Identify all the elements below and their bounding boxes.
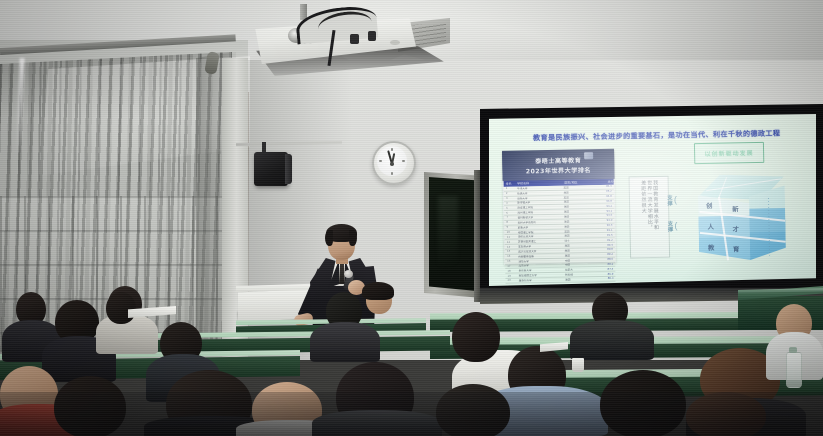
table-cell: 92.1 (596, 229, 615, 232)
table-cell: 88.2 (596, 263, 615, 266)
cube-char: 创 (706, 201, 713, 210)
table-cell: 11 (505, 235, 516, 238)
table-cell: 96.4 (595, 185, 614, 188)
table-cell: 6 (504, 211, 515, 214)
water-bottle-cap-icon (789, 347, 797, 353)
table-cell: 94.8 (595, 200, 614, 203)
clock-tick (391, 172, 393, 175)
cube-char: 才 (732, 224, 739, 233)
wall-speaker-side (285, 154, 292, 184)
table-cell: 91.2 (596, 238, 615, 241)
cube-char: 人 (707, 222, 714, 231)
support-label: 支撑 (665, 221, 673, 233)
table-cell: 14 (505, 250, 516, 253)
table-cell: 94.2 (595, 205, 614, 208)
table-cell: 8 (504, 221, 515, 224)
support-item: 支撑 ( (665, 194, 691, 206)
table-cell: 10 (505, 231, 516, 234)
ranking-table-title: 泰晤士高等教育 2023年世界大学排名 (502, 150, 615, 180)
table-cell: 13 (505, 245, 516, 248)
support-item: 支撑 ( (665, 220, 691, 232)
presenter-hair-side (325, 230, 333, 246)
ceiling-fixture (390, 40, 400, 45)
three-part-cube-diagram: 创 新 人 才 教 育 (692, 173, 788, 263)
table-cell: 17 (505, 265, 516, 268)
ranking-title-line1: 泰晤士高等教育 (535, 155, 581, 165)
table-cell: 91.6 (596, 234, 615, 237)
table-cell: 2 (504, 192, 515, 195)
table-cell: 87.4 (596, 267, 615, 270)
table-cell: 7 (504, 216, 515, 219)
slide-green-label-text: 以创新驱动发展 (705, 148, 754, 158)
table-cell: 89.8 (596, 248, 615, 251)
table-cell: 1 (504, 187, 515, 190)
slide-content: 教育是民族振兴、社会进步的重要基石，是功在当代、利在千秋的德政工程 泰晤士高等教… (489, 114, 816, 286)
classroom-photo: 教育是民族振兴、社会进步的重要基石，是功在当代、利在千秋的德政工程 泰晤士高等教… (0, 0, 823, 436)
slide-note-line: 我国教育发展水平和 (652, 180, 658, 254)
table-cell: 5 (504, 206, 515, 209)
table-cell: 19 (505, 274, 516, 277)
table-cell: 86.3 (597, 277, 616, 280)
table-cell: 88.6 (596, 258, 615, 261)
presenter-hair-side (349, 230, 357, 246)
clock-tick (391, 148, 393, 151)
support-bracket-icon: ( (674, 196, 677, 205)
table-cell: 93.6 (595, 214, 614, 217)
support-arrows-group: 支撑 ( 支撑 ( (665, 187, 692, 239)
table-cell: 86.9 (597, 272, 616, 275)
table-cell: 9 (504, 226, 515, 229)
table-cell: 94.1 (595, 209, 614, 212)
ranking-column-header: 总分 (596, 180, 613, 184)
slide-note-line: 差距依然很大 (640, 180, 646, 254)
table-cell: 18 (505, 269, 516, 272)
water-bottle-icon (786, 352, 802, 388)
ranking-logo-icon (584, 152, 593, 159)
support-bracket-icon: ( (674, 222, 677, 231)
slide-note-line: 世界一流大学相比， (646, 180, 652, 254)
table-cell: 15 (505, 255, 516, 258)
cube-right-face (749, 185, 786, 260)
ranking-table-body: 1牛津大学英国96.42哈佛大学美国95.23剑桥大学英国94.83斯坦福大学美… (504, 185, 615, 264)
clock-tick (402, 160, 405, 162)
microphone-head-icon (344, 270, 353, 278)
table-cell: 康奈尔大学 (517, 278, 564, 283)
projector-knob-secondary (368, 31, 376, 41)
table-cell: 美国 (563, 277, 597, 282)
cube-char: 教 (708, 243, 715, 252)
ranking-column-header: 国家/地区 (562, 180, 596, 185)
wall-speaker-icon (254, 152, 288, 186)
cup-icon (572, 358, 584, 372)
table-cell: 94.8 (595, 195, 614, 198)
table-cell: 95.2 (595, 190, 614, 193)
clock-tick (379, 160, 382, 162)
table-cell: 3 (504, 202, 515, 205)
table-cell: 20 (505, 279, 516, 282)
projector-knob (350, 34, 359, 44)
table-cell: 90.4 (596, 243, 615, 246)
support-label: 支撑 (665, 195, 673, 207)
table-cell: 3 (504, 197, 515, 200)
ranking-column-header: 排名 (504, 182, 516, 186)
slide-green-label-box: 以创新驱动发展 (694, 142, 764, 164)
table-cell: 93.0 (596, 219, 615, 222)
blackboard-sheen (438, 196, 458, 266)
table-cell: 89.2 (596, 253, 615, 256)
table-cell: 16 (505, 260, 516, 263)
presentation-slide[interactable]: 教育是民族振兴、社会进步的重要基石，是功在当代、利在千秋的德政工程 泰晤士高等教… (489, 114, 816, 286)
cube-char: 育 (733, 244, 740, 253)
foreground-shadow (0, 392, 823, 436)
cube-char: 新 (732, 204, 739, 213)
table-cell: 12 (505, 240, 516, 243)
clock-center-pin (390, 162, 394, 166)
ranking-title-line2: 2023年世界大学排名 (526, 165, 591, 175)
table-row: 20康奈尔大学美国86.3 (505, 277, 615, 284)
table-cell: 92.4 (596, 224, 615, 227)
presenter-left-hand (293, 312, 314, 327)
